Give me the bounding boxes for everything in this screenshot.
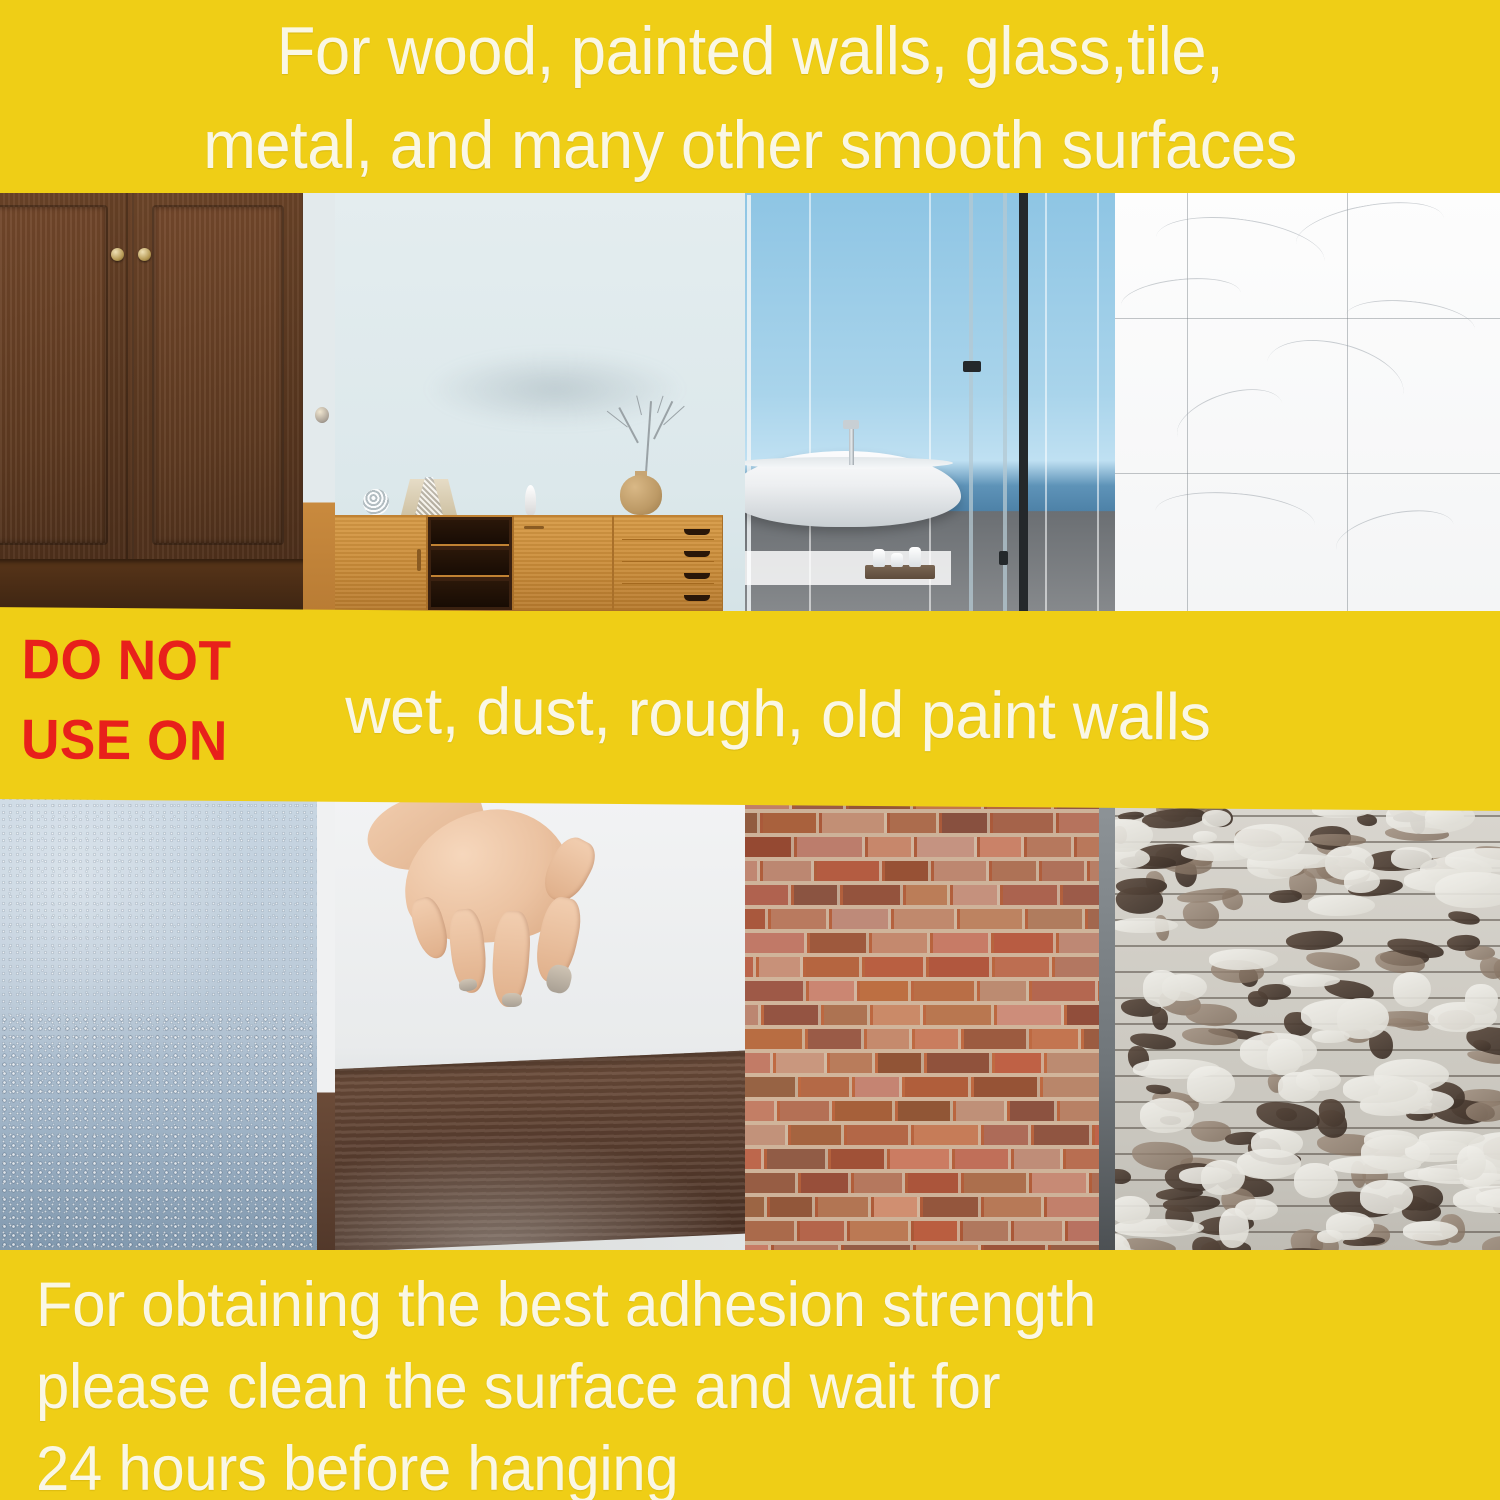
unsuitable-surfaces-photo-row [0,795,1500,1253]
top-banner-line-1: For wood, painted walls, glass,tile, [71,4,1429,98]
photo-dusty-surface [335,795,745,1253]
cabinet-knob-icon [111,248,124,261]
photo-rough-brick-wall [745,795,1115,1253]
photo-glass-bathroom [745,193,1115,611]
photo-wood-cabinet [0,193,335,611]
top-banner: For wood, painted walls, glass,tile, met… [0,0,1500,193]
photo-old-paint-wall [1115,795,1500,1253]
photo-wet-surface [0,795,335,1253]
do-not-use-banner: DO NOT USE ON wet, dust, rough, old pain… [0,607,1500,811]
bottom-banner-line-1: For obtaining the best adhesion strength [36,1264,1427,1346]
bottom-banner-line-2: please clean the surface and wait for [36,1346,1427,1428]
suitable-surfaces-photo-row [0,193,1500,611]
do-not-label-line-1: DO NOT [21,623,231,697]
bottom-banner-line-3: 24 hours before hanging [36,1428,1427,1500]
top-banner-line-2: metal, and many other smooth surfaces [71,98,1429,192]
photo-white-tile [1115,193,1500,611]
do-not-label-line-2: USE ON [21,703,228,777]
bottom-banner: For obtaining the best adhesion strength… [0,1250,1500,1500]
product-infographic: For wood, painted walls, glass,tile, met… [0,0,1500,1500]
cabinet-knob-icon [138,248,151,261]
unsuitable-surfaces-text: wet, dust, rough, old paint walls [345,670,1211,757]
hand-icon [363,801,593,1031]
photo-painted-wall [335,193,745,611]
